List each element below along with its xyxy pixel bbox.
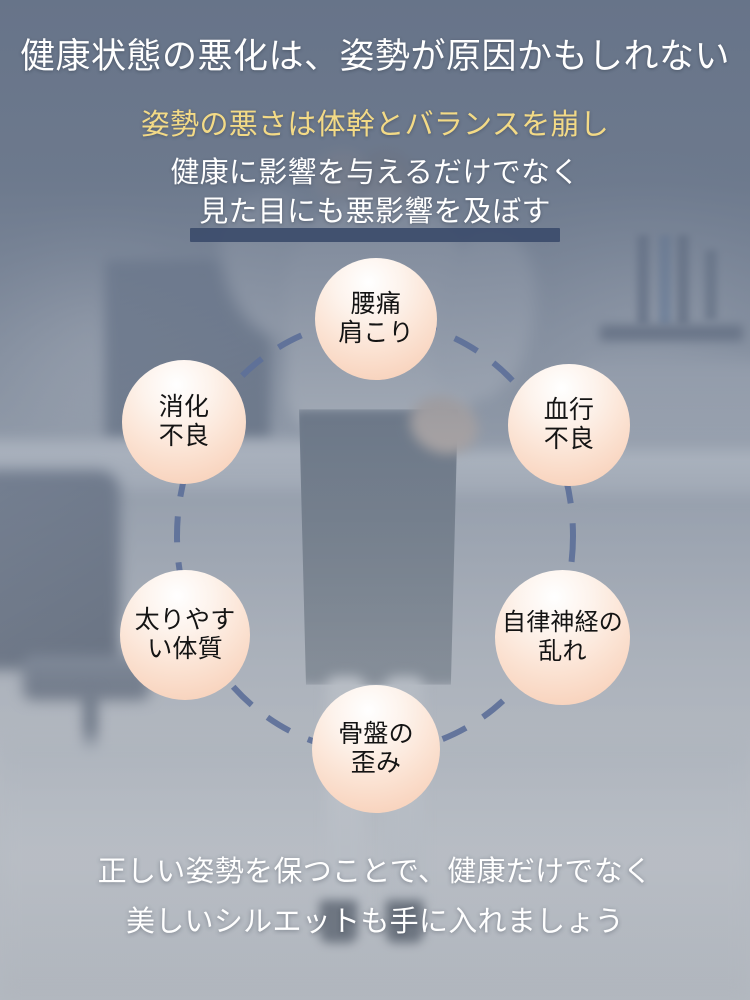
symptom-bubble-lower-left[interactable]: 太りやす い体質 bbox=[120, 570, 250, 700]
bubble-bottom-line2: 歪み bbox=[351, 749, 401, 779]
page-title: 健康状態の悪化は、姿勢が原因かもしれない bbox=[0, 35, 750, 79]
bubble-lower-right-line2: 乱れ bbox=[538, 638, 586, 666]
symptom-bubble-upper-right[interactable]: 血行 不良 bbox=[508, 364, 630, 486]
poster-canvas: 健康状態の悪化は、姿勢が原因かもしれない 姿勢の悪さは体幹とバランスを崩し 健康… bbox=[0, 0, 750, 1000]
symptom-bubble-lower-right[interactable]: 自律神経の 乱れ bbox=[495, 570, 630, 705]
bubble-top-line2: 肩こり bbox=[338, 319, 414, 349]
subtitle-line-3-group: 見た目にも悪影響を及ぼす bbox=[0, 198, 750, 244]
subtitle-line-3: 見た目にも悪影響を及ぼす bbox=[0, 198, 750, 227]
bubble-upper-right-line1: 血行 bbox=[544, 396, 594, 426]
bubble-upper-left-line1: 消化 bbox=[159, 393, 209, 423]
bubble-upper-right-line2: 不良 bbox=[544, 425, 594, 455]
subtitle-line-2: 健康に影響を与えるだけでなく bbox=[0, 159, 750, 188]
bubble-upper-left-line2: 不良 bbox=[159, 422, 209, 452]
symptom-bubble-bottom[interactable]: 骨盤の 歪み bbox=[312, 685, 440, 813]
bubble-lower-left-line1: 太りやす bbox=[135, 606, 236, 636]
subtitle-line-1: 姿勢の悪さは体幹とバランスを崩し bbox=[0, 111, 750, 140]
footer-line-1: 正しい姿勢を保つことで、健康だけでなく bbox=[0, 858, 750, 887]
symptom-diagram: 腰痛 肩こり 消化 不良 血行 不良 太りやす い体質 自律神経の 乱れ 骨盤の… bbox=[0, 240, 750, 830]
bubble-bottom-line1: 骨盤の bbox=[338, 720, 414, 750]
bubble-lower-right-line1: 自律神経の bbox=[502, 609, 623, 637]
bubble-lower-left-line2: い体質 bbox=[147, 635, 223, 665]
footer-line-2: 美しいシルエットも手に入れましょう bbox=[0, 908, 750, 937]
bubble-top-line1: 腰痛 bbox=[351, 290, 401, 320]
symptom-bubble-upper-left[interactable]: 消化 不良 bbox=[122, 360, 246, 484]
symptom-bubble-top[interactable]: 腰痛 肩こり bbox=[315, 258, 437, 380]
